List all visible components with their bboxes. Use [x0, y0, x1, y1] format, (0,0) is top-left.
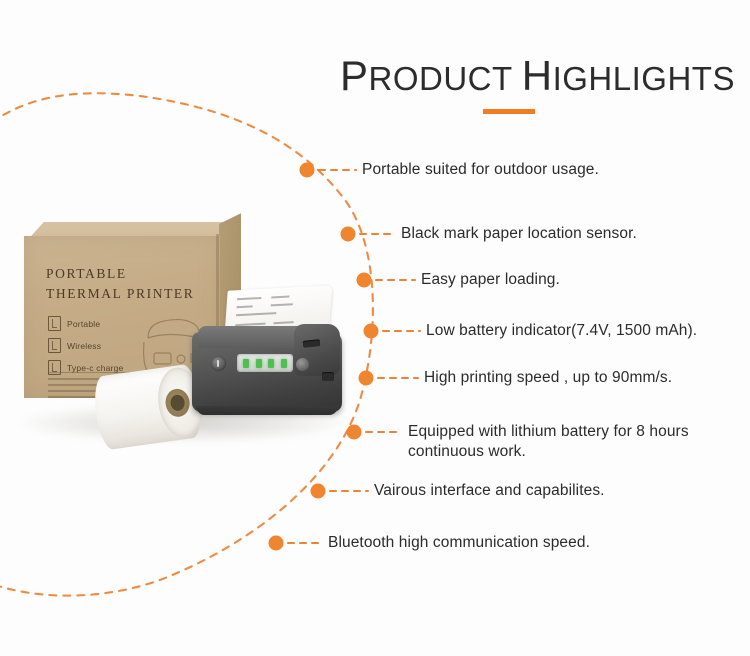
highlight-item-bluetooth-speed: Bluetooth high communication speed. — [328, 533, 590, 553]
highlight-item-low-battery-indicator: Low battery indicator(7.4V, 1500 mAh). — [426, 321, 697, 341]
highlight-item-easy-paper-loading: Easy paper loading. — [421, 270, 560, 290]
highlight-item-black-mark-sensor: Black mark paper location sensor. — [401, 224, 637, 244]
highlight-item-portable-outdoor: Portable suited for outdoor usage. — [362, 160, 599, 180]
product-highlights-infographic: PRODUCT HIGHLIGHTS Portable suited for o… — [0, 0, 750, 656]
highlight-item-lithium-battery: Equipped with lithium battery for 8 hour… — [408, 422, 689, 462]
highlight-item-various-interface: Vairous interface and capabilites. — [374, 481, 605, 501]
highlights-list: Portable suited for outdoor usage. Black… — [0, 0, 750, 656]
highlight-item-high-print-speed: High printing speed , up to 90mm/s. — [424, 368, 672, 388]
